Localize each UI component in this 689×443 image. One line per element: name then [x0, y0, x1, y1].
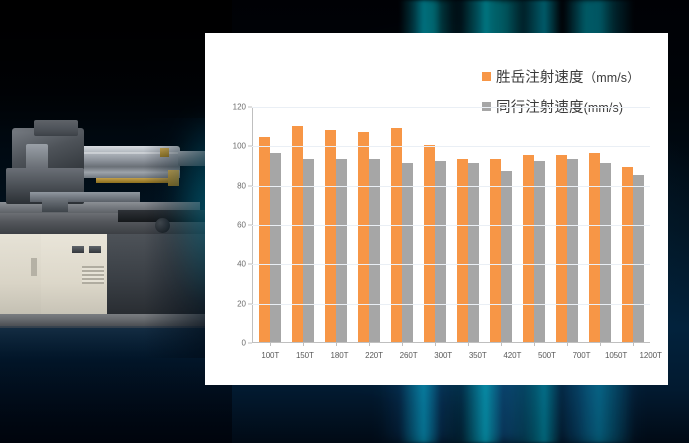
y-axis-tick-mark: [248, 264, 252, 265]
bar: [391, 128, 402, 342]
x-axis-tick-label: 180T: [322, 351, 357, 360]
bar: [402, 163, 413, 342]
x-axis-tick-label: 100T: [253, 351, 288, 360]
x-axis-tick-mark: [534, 342, 535, 346]
gridline: [252, 107, 650, 108]
y-axis-tick-label: 80: [237, 181, 246, 190]
y-axis-tick-label: 20: [237, 299, 246, 308]
bar: [600, 163, 611, 342]
x-axis-tick-mark: [501, 342, 502, 346]
x-axis-tick-mark: [435, 342, 436, 346]
x-axis-tick-label: 300T: [426, 351, 461, 360]
y-axis-tick-mark: [248, 185, 252, 186]
y-axis-tick-label: 100: [233, 142, 246, 151]
legend-swatch: [482, 72, 491, 81]
x-axis-tick-label: 1200T: [633, 351, 668, 360]
bar-chart: 胜岳注射速度（mm/s）同行注射速度(mm/s) 020406080100120…: [205, 33, 668, 385]
gridline: [252, 264, 650, 265]
x-axis-tick-label: 150T: [288, 351, 323, 360]
x-axis: [252, 342, 650, 343]
plot-area: 020406080100120: [252, 107, 650, 343]
bar: [358, 132, 369, 342]
bar: [468, 163, 479, 342]
y-axis-tick-mark: [248, 146, 252, 147]
x-axis-tick-label: 700T: [564, 351, 599, 360]
y-axis-tick-mark: [248, 107, 252, 108]
bar: [589, 153, 600, 342]
x-axis-tick-label: 350T: [460, 351, 495, 360]
x-axis-tick-mark: [303, 342, 304, 346]
x-axis-tick-label: 500T: [530, 351, 565, 360]
gridline: [252, 146, 650, 147]
bar: [556, 155, 567, 342]
screenshot-root: 胜岳注射速度（mm/s）同行注射速度(mm/s) 020406080100120…: [0, 0, 689, 443]
x-axis-tick-mark: [468, 342, 469, 346]
bar: [534, 161, 545, 342]
bar: [325, 130, 336, 342]
bar: [523, 155, 534, 342]
bar: [501, 171, 512, 342]
x-axis-tick-mark: [633, 342, 634, 346]
y-axis-tick-mark: [248, 303, 252, 304]
y-axis-tick-mark: [248, 225, 252, 226]
x-axis-labels: 100T150T180T220T260T300T350T420T500T700T…: [253, 351, 668, 360]
bar: [435, 161, 446, 342]
y-axis-tick-label: 40: [237, 260, 246, 269]
gridline: [252, 186, 650, 187]
bar: [633, 175, 644, 342]
y-axis-tick-label: 60: [237, 221, 246, 230]
bar: [292, 126, 303, 342]
gridline: [252, 304, 650, 305]
x-axis-tick-label: 420T: [495, 351, 530, 360]
legend-item-label: 胜岳注射速度（mm/s）: [496, 66, 640, 87]
x-axis-tick-mark: [402, 342, 403, 346]
x-axis-tick-mark: [567, 342, 568, 346]
x-axis-tick-mark: [600, 342, 601, 346]
bar: [424, 145, 435, 342]
x-axis-tick-label: 1050T: [599, 351, 634, 360]
gridline: [252, 225, 650, 226]
legend-item[interactable]: 胜岳注射速度（mm/s）: [482, 66, 640, 87]
y-axis-tick-label: 120: [233, 103, 246, 112]
chart-panel: 胜岳注射速度（mm/s）同行注射速度(mm/s) 020406080100120…: [205, 33, 668, 385]
y-axis-tick-label: 0: [242, 339, 246, 348]
x-axis-tick-label: 260T: [391, 351, 426, 360]
y-axis-tick-mark: [248, 343, 252, 344]
x-axis-tick-label: 220T: [357, 351, 392, 360]
x-axis-tick-mark: [369, 342, 370, 346]
bar: [259, 137, 270, 342]
bar: [270, 153, 281, 342]
x-axis-tick-mark: [336, 342, 337, 346]
bar: [622, 167, 633, 342]
x-axis-tick-mark: [270, 342, 271, 346]
